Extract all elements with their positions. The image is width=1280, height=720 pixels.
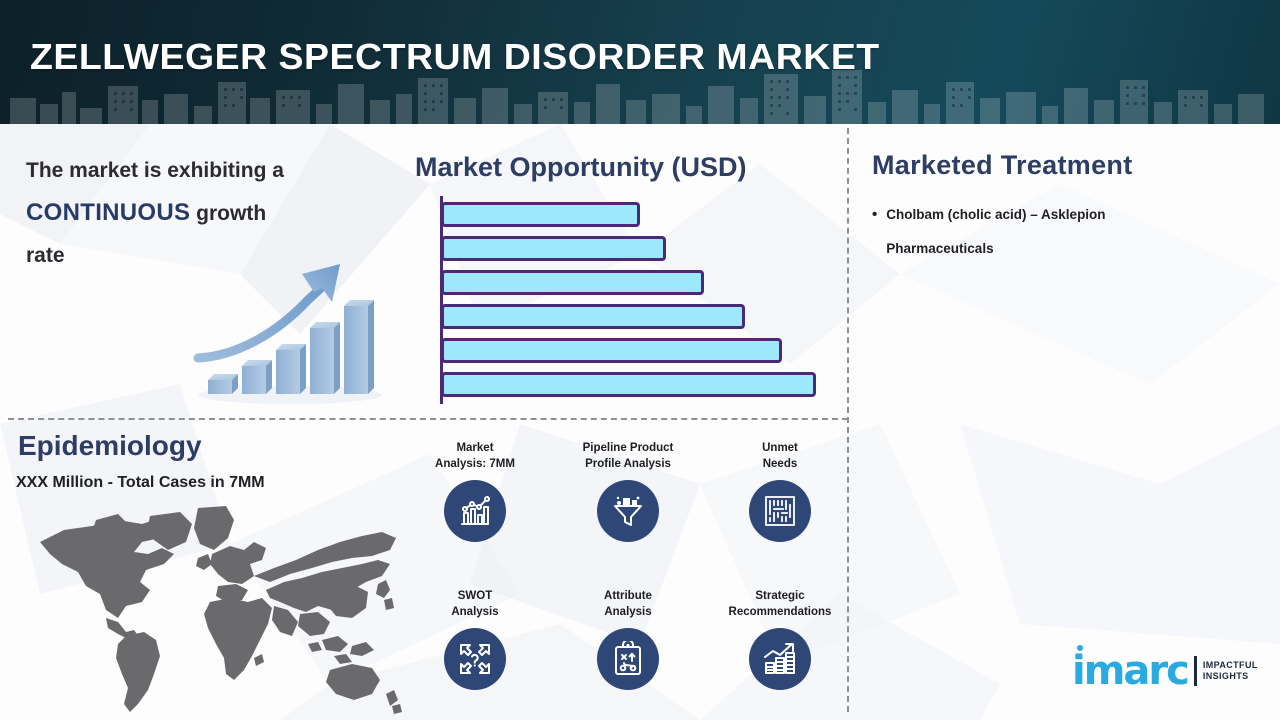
marketed-treatment-title: Marketed Treatment — [872, 150, 1133, 181]
bar-3 — [441, 270, 704, 295]
feature-strategic-recommendations[interactable]: Strategic Recommendations — [705, 588, 855, 690]
growth-bars-arrow-icon[interactable] — [749, 628, 811, 690]
marketed-treatment-list: • Cholbam (cholic acid) – Asklepion Phar… — [872, 198, 1202, 266]
feature-market-analysis[interactable]: Market Analysis: 7MM — [400, 440, 550, 542]
logo-divider — [1194, 656, 1197, 686]
market-analysis-chart-icon[interactable] — [444, 480, 506, 542]
feature-label-line1: SWOT — [400, 588, 550, 604]
feature-unmet-needs[interactable]: Unmet Needs — [705, 440, 855, 542]
feature-label-line2: Recommendations — [705, 604, 855, 620]
clipboard-strategy-icon[interactable] — [597, 628, 659, 690]
feature-label-line2: Analysis — [553, 604, 703, 620]
epidemiology-subtitle: XXX Million - Total Cases in 7MM — [16, 474, 265, 492]
swot-arrows-question-icon[interactable] — [444, 628, 506, 690]
bar-4 — [441, 304, 745, 329]
bar-5 — [441, 338, 782, 363]
marketed-treatment-item-text: Cholbam (cholic acid) – Asklepion Pharma… — [886, 198, 1202, 266]
bullet-icon: • — [872, 198, 877, 266]
bar-6 — [441, 372, 816, 397]
feature-label-line2: Analysis — [400, 604, 550, 620]
maze-icon[interactable] — [749, 480, 811, 542]
feature-label-line1: Attribute — [553, 588, 703, 604]
horizontal-divider — [8, 418, 848, 420]
feature-label-line2: Profile Analysis — [553, 456, 703, 472]
feature-label-line1: Unmet — [705, 440, 855, 456]
growth-chart-icon — [190, 252, 390, 407]
feature-pipeline-product-profile[interactable]: Pipeline Product Profile Analysis — [553, 440, 703, 542]
feature-label-line1: Market — [400, 440, 550, 456]
lead-line-1: The market is exhibiting a — [26, 150, 396, 192]
bar-2 — [441, 236, 666, 261]
lead-line-2-rest: growth — [190, 202, 266, 225]
feature-attribute-analysis[interactable]: Attribute Analysis — [553, 588, 703, 690]
imarc-logo: imarc IMPACTFUL INSIGHTS — [1072, 652, 1258, 690]
bar-1 — [441, 202, 640, 227]
page-title: ZELLWEGER SPECTRUM DISORDER MARKET — [30, 36, 880, 78]
lead-emphasis: CONTINUOUS — [26, 199, 190, 226]
epidemiology-title: Epidemiology — [18, 430, 202, 462]
logo-tagline-line2: INSIGHTS — [1203, 671, 1258, 682]
header-banner: ZELLWEGER SPECTRUM DISORDER MARKET — [0, 0, 1280, 124]
feature-swot-analysis[interactable]: SWOT Analysis — [400, 588, 550, 690]
funnel-icon[interactable] — [597, 480, 659, 542]
feature-label-line2: Needs — [705, 456, 855, 472]
logo-tagline: IMPACTFUL INSIGHTS — [1203, 660, 1258, 682]
logo-wordmark: imarc — [1072, 652, 1188, 690]
feature-label-line1: Strategic — [705, 588, 855, 604]
infographic-slide: ZELLWEGER SPECTRUM DISORDER MARKET The m… — [0, 0, 1280, 720]
feature-label-line1: Pipeline Product — [553, 440, 703, 456]
list-item: • Cholbam (cholic acid) – Asklepion Phar… — [872, 198, 1202, 266]
feature-label-line2: Analysis: 7MM — [400, 456, 550, 472]
world-map-icon — [22, 498, 422, 720]
logo-tagline-line1: IMPACTFUL — [1203, 660, 1258, 671]
logo-dot-icon — [1077, 645, 1083, 651]
market-opportunity-chart — [435, 196, 835, 406]
lead-line-2: CONTINUOUS growth — [26, 192, 396, 235]
market-opportunity-title: Market Opportunity (USD) — [415, 152, 747, 183]
